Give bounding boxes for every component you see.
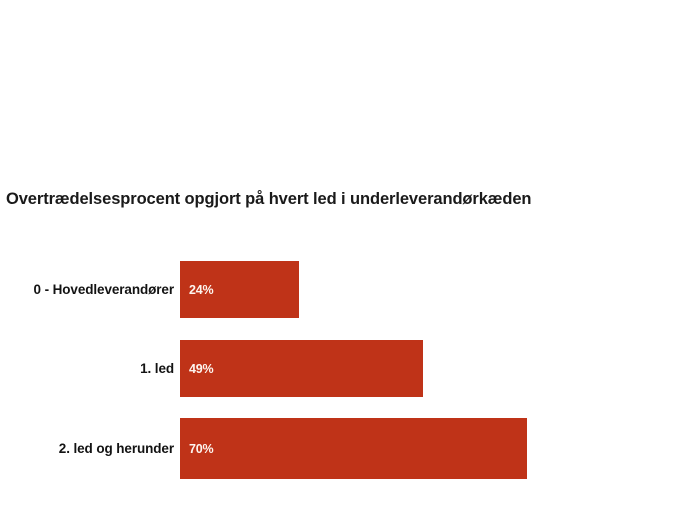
bar-track: 49% xyxy=(180,340,696,397)
chart-title: Overtrædelsesprocent opgjort på hvert le… xyxy=(6,190,531,209)
bar-track: 70% xyxy=(180,418,696,479)
bar-row: 1. led 49% xyxy=(0,340,696,397)
bar-value-label: 70% xyxy=(180,442,213,456)
category-label: 2. led og herunder xyxy=(0,441,180,456)
bar-track: 24% xyxy=(180,261,696,318)
bar-row: 0 - Hovedleverandører 24% xyxy=(0,261,696,318)
bar-row: 2. led og herunder 70% xyxy=(0,418,696,479)
plot-area: 0 - Hovedleverandører 24% 1. led 49% 2. … xyxy=(0,255,696,487)
bar-value-label: 24% xyxy=(180,283,213,297)
category-label: 1. led xyxy=(0,361,180,376)
bar-segment[interactable]: 70% xyxy=(180,418,527,479)
bar-value-label: 49% xyxy=(180,362,213,376)
category-label: 0 - Hovedleverandører xyxy=(0,282,180,297)
bar-segment[interactable]: 49% xyxy=(180,340,423,397)
bar-segment[interactable]: 24% xyxy=(180,261,299,318)
chart-container: Overtrædelsesprocent opgjort på hvert le… xyxy=(0,0,696,522)
